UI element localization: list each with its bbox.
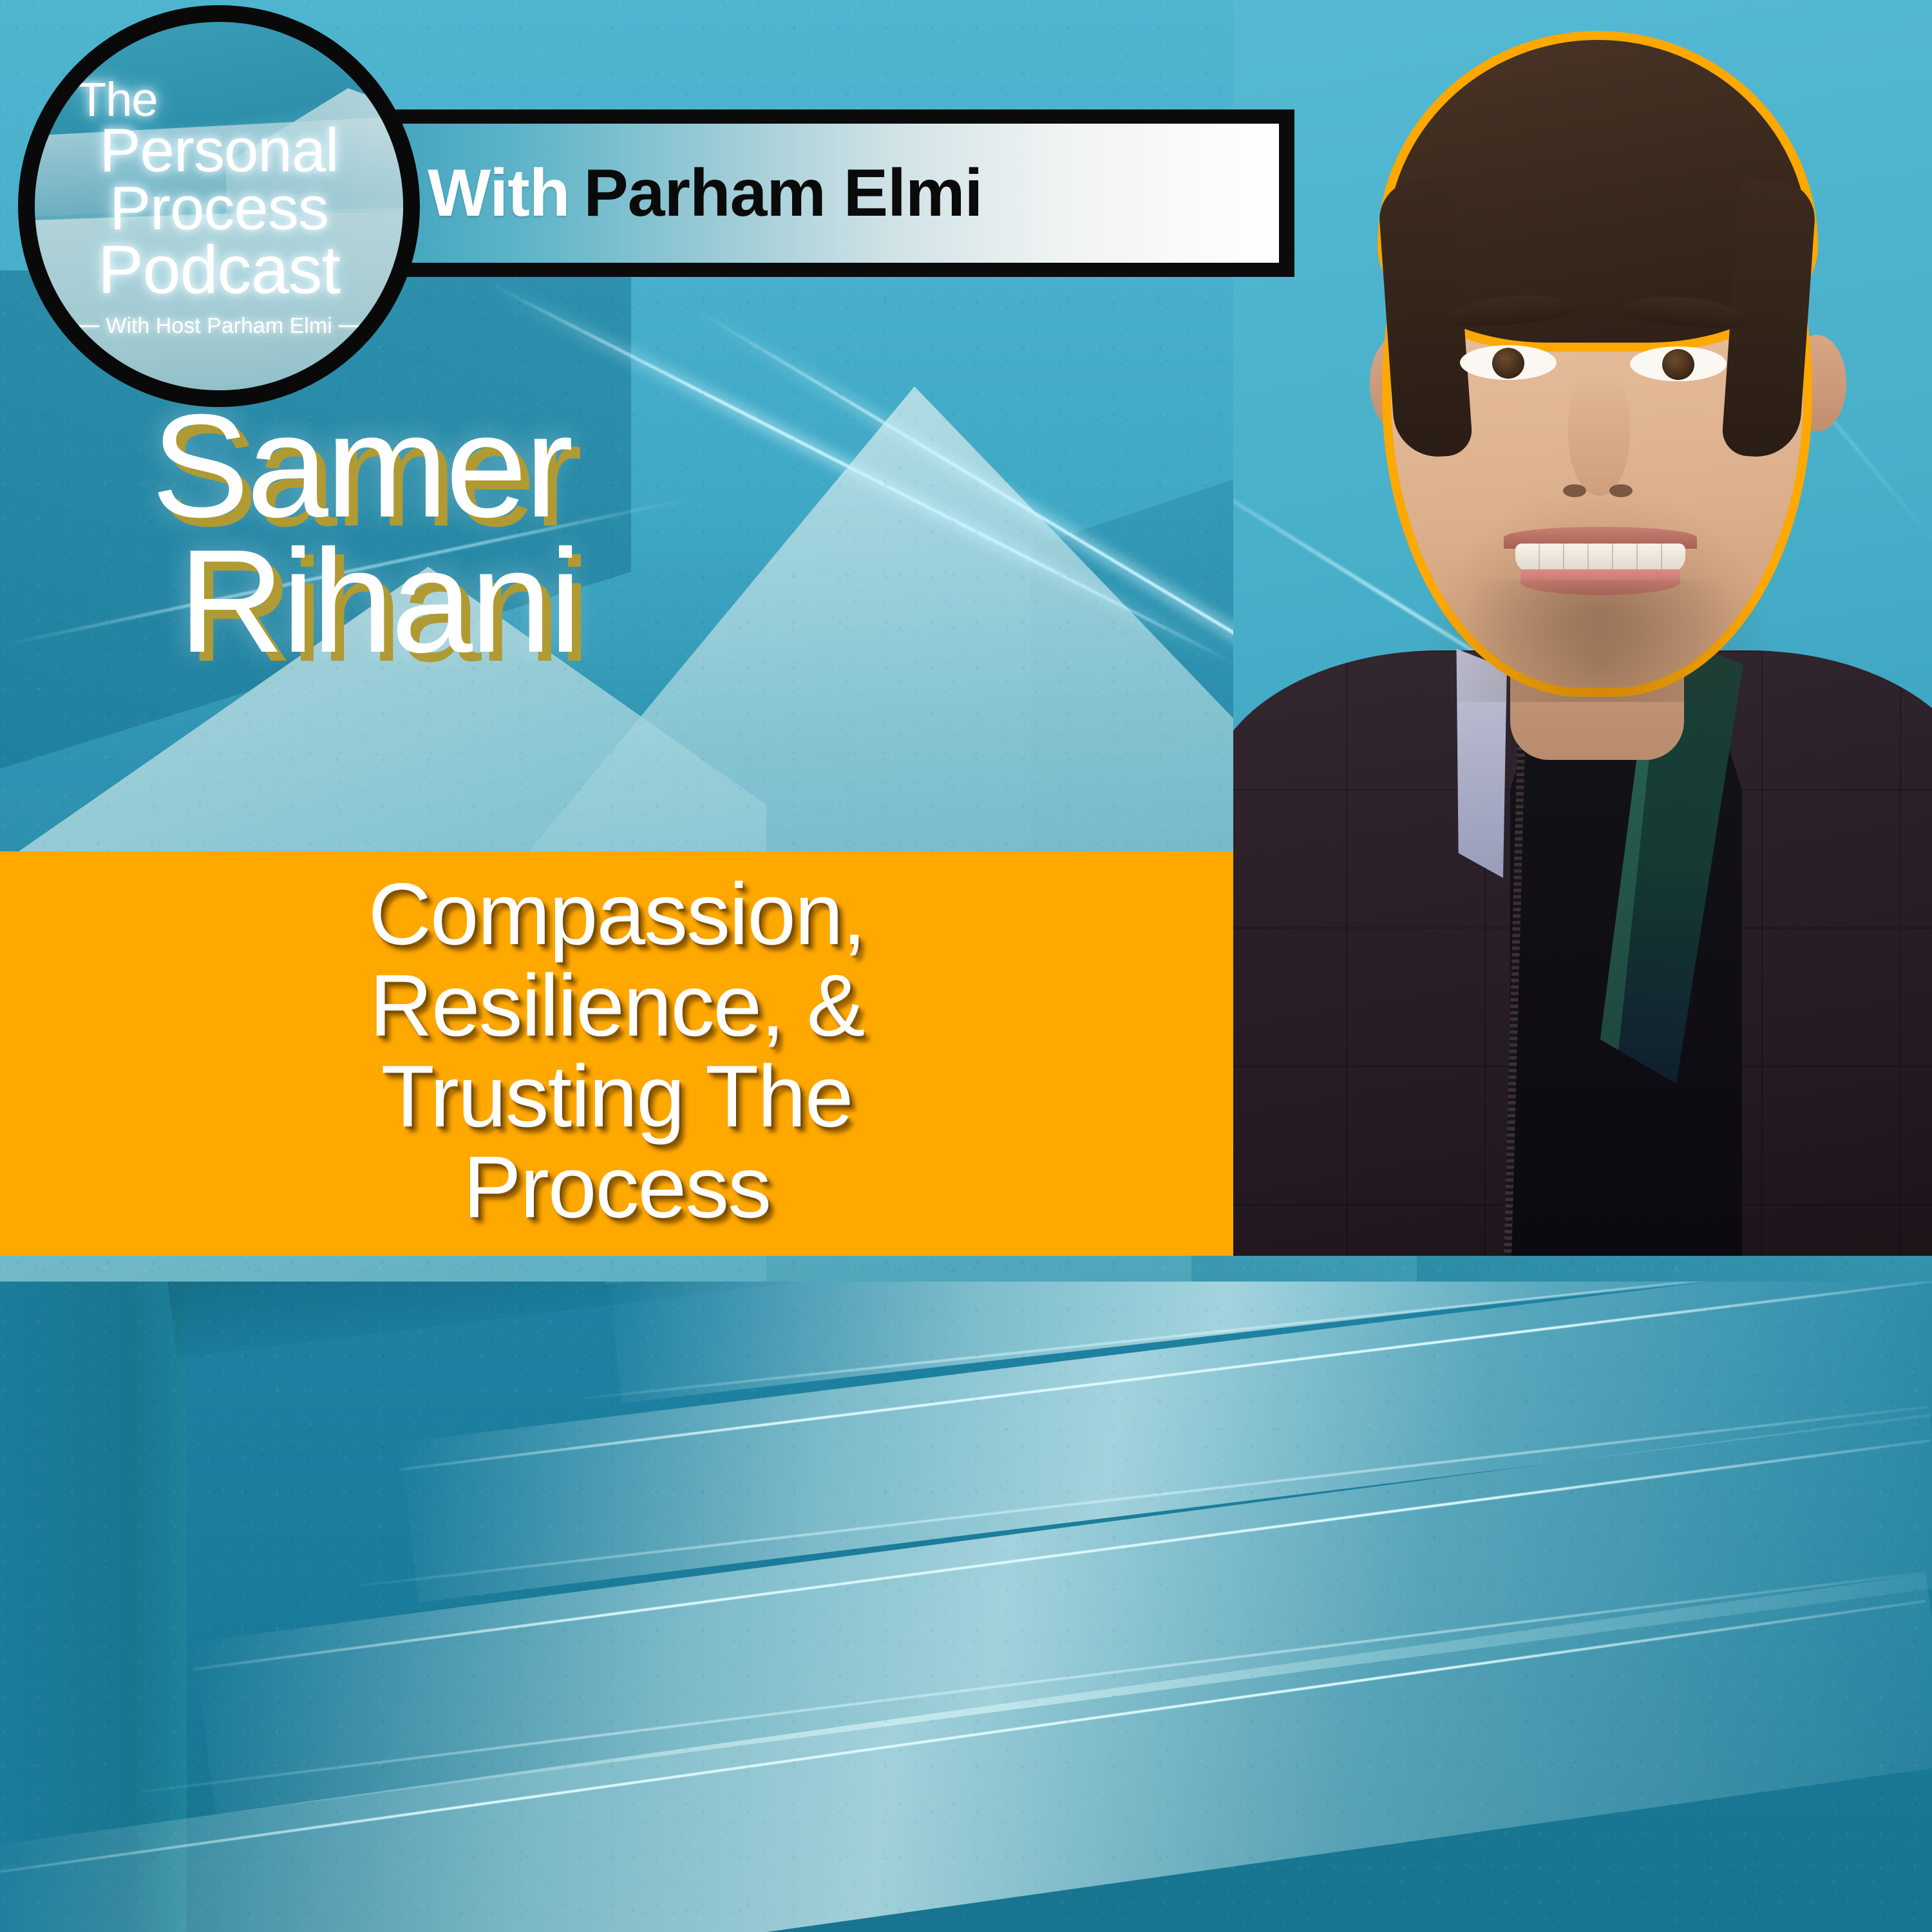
logo-line-personal: Personal (100, 122, 339, 180)
guest-eye-right (1630, 346, 1727, 381)
logo-rule-left-icon (62, 325, 99, 327)
episode-title-line-1: Compassion, (368, 869, 866, 960)
logo-line-podcast: Podcast (98, 238, 340, 303)
guest-photo (1233, 0, 1932, 1256)
logo-line-the: The (77, 77, 158, 122)
logo-text-stack: The Personal Process Podcast With Host P… (35, 22, 403, 390)
episode-title-line-2: Resilience, & (370, 960, 864, 1051)
guest-eye-left (1460, 345, 1557, 380)
podcast-logo-badge: The Personal Process Podcast With Host P… (18, 5, 420, 407)
host-name-label: Parham Elmi (583, 155, 982, 232)
background-stairs-photo (0, 1282, 1932, 1932)
podcast-cover-art: The Personal Process Podcast With Host P… (0, 0, 1932, 1932)
episode-title-block: Compassion, Resilience, & Trusting The P… (0, 851, 1233, 1256)
guest-nose (1568, 374, 1630, 496)
logo-rule-right-icon (339, 325, 376, 327)
guest-first-name: Samer (151, 399, 1156, 535)
host-banner-inner: With Parham Elmi (376, 124, 1279, 263)
guest-name-block: Samer Rihani (151, 399, 1156, 670)
episode-title-line-3: Trusting The (381, 1051, 853, 1142)
logo-subtitle: With Host Parham Elmi (106, 314, 332, 339)
guest-last-name: Rihani (178, 535, 1156, 670)
logo-line-process: Process (109, 180, 328, 238)
host-with-label: With (428, 155, 569, 232)
guest-chin-shadow (1465, 580, 1736, 689)
logo-subtitle-row: With Host Parham Elmi (35, 314, 403, 339)
host-banner: With Parham Elmi (361, 109, 1294, 277)
episode-title-line-4: Process (463, 1142, 770, 1233)
